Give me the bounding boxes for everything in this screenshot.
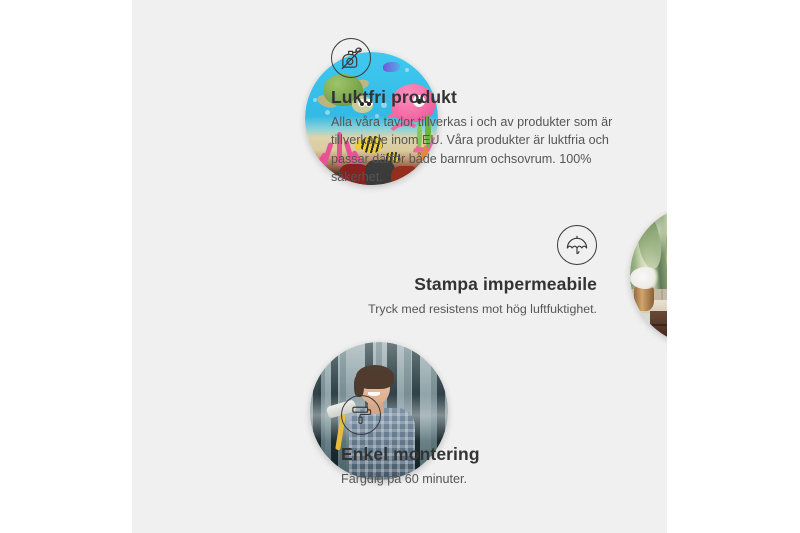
feature-title: Luktfri produkt xyxy=(331,87,631,109)
feature-description: Färgdig på 60 minuter. xyxy=(341,470,631,489)
feature-title: Enkel montering xyxy=(341,444,631,466)
photo-bathroom-wallpaper xyxy=(630,205,667,345)
vase xyxy=(634,286,654,311)
feature-waterproof-print: Stampa impermeabile Tryck med resistens … xyxy=(277,225,597,318)
feature-easy-mounting: Enkel montering Färgdig på 60 minuter. xyxy=(341,395,631,488)
feature-odour-free: Luktfri produkt Alla våra tavlor tillver… xyxy=(331,38,631,187)
feature-description: Alla våra tavlor tillverkas i och av pro… xyxy=(331,113,631,187)
feature-title: Stampa impermeabile xyxy=(277,274,597,296)
feature-description: Tryck med resistens mot hög luftfuktighe… xyxy=(277,300,597,318)
paint-roller-icon xyxy=(341,395,381,435)
screenshot-stage: Luktfri produkt Alla våra tavlor tillver… xyxy=(0,0,800,533)
product-features-panel: Luktfri produkt Alla våra tavlor tillver… xyxy=(132,0,667,533)
no-fragrance-spray-icon xyxy=(331,38,371,78)
umbrella-icon xyxy=(557,225,597,265)
white-flowers xyxy=(630,267,661,289)
